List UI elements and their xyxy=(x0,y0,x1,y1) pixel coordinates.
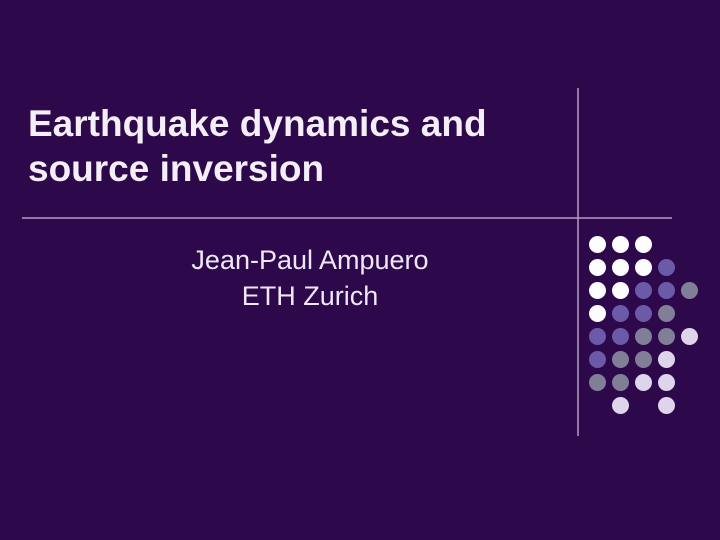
vertical-divider xyxy=(577,88,579,436)
slide-subtitle: Jean-Paul Ampuero ETH Zurich xyxy=(110,242,510,314)
decorative-dot xyxy=(635,305,652,322)
decorative-dot xyxy=(658,259,675,276)
decorative-dot xyxy=(589,259,606,276)
title-line-2: source inversion xyxy=(28,146,558,191)
decorative-dot xyxy=(681,328,698,345)
decorative-dot xyxy=(635,328,652,345)
slide-title: Earthquake dynamics and source inversion xyxy=(28,101,558,191)
horizontal-divider xyxy=(22,217,672,219)
subtitle-affiliation: ETH Zurich xyxy=(110,278,510,314)
decorative-dot xyxy=(589,236,606,253)
decorative-dot xyxy=(589,282,606,299)
decorative-dot xyxy=(612,236,629,253)
decorative-dot xyxy=(681,282,698,299)
decorative-dot xyxy=(589,305,606,322)
decorative-dot xyxy=(635,236,652,253)
decorative-dot xyxy=(635,259,652,276)
decorative-dot xyxy=(589,351,606,368)
decorative-dot xyxy=(612,374,629,391)
presentation-slide: Earthquake dynamics and source inversion… xyxy=(0,0,720,540)
decorative-dot xyxy=(589,374,606,391)
decorative-dot xyxy=(635,374,652,391)
decorative-dot xyxy=(612,282,629,299)
decorative-dot xyxy=(658,397,675,414)
decorative-dot xyxy=(589,328,606,345)
subtitle-author: Jean-Paul Ampuero xyxy=(110,242,510,278)
decorative-dot xyxy=(612,351,629,368)
decorative-dot-grid xyxy=(589,236,714,421)
decorative-dot xyxy=(612,328,629,345)
decorative-dot xyxy=(612,259,629,276)
decorative-dot xyxy=(635,282,652,299)
decorative-dot xyxy=(612,397,629,414)
decorative-dot xyxy=(658,282,675,299)
decorative-dot xyxy=(658,328,675,345)
title-line-1: Earthquake dynamics and xyxy=(28,101,558,146)
decorative-dot xyxy=(612,305,629,322)
decorative-dot xyxy=(635,351,652,368)
decorative-dot xyxy=(658,305,675,322)
decorative-dot xyxy=(658,374,675,391)
decorative-dot xyxy=(658,351,675,368)
